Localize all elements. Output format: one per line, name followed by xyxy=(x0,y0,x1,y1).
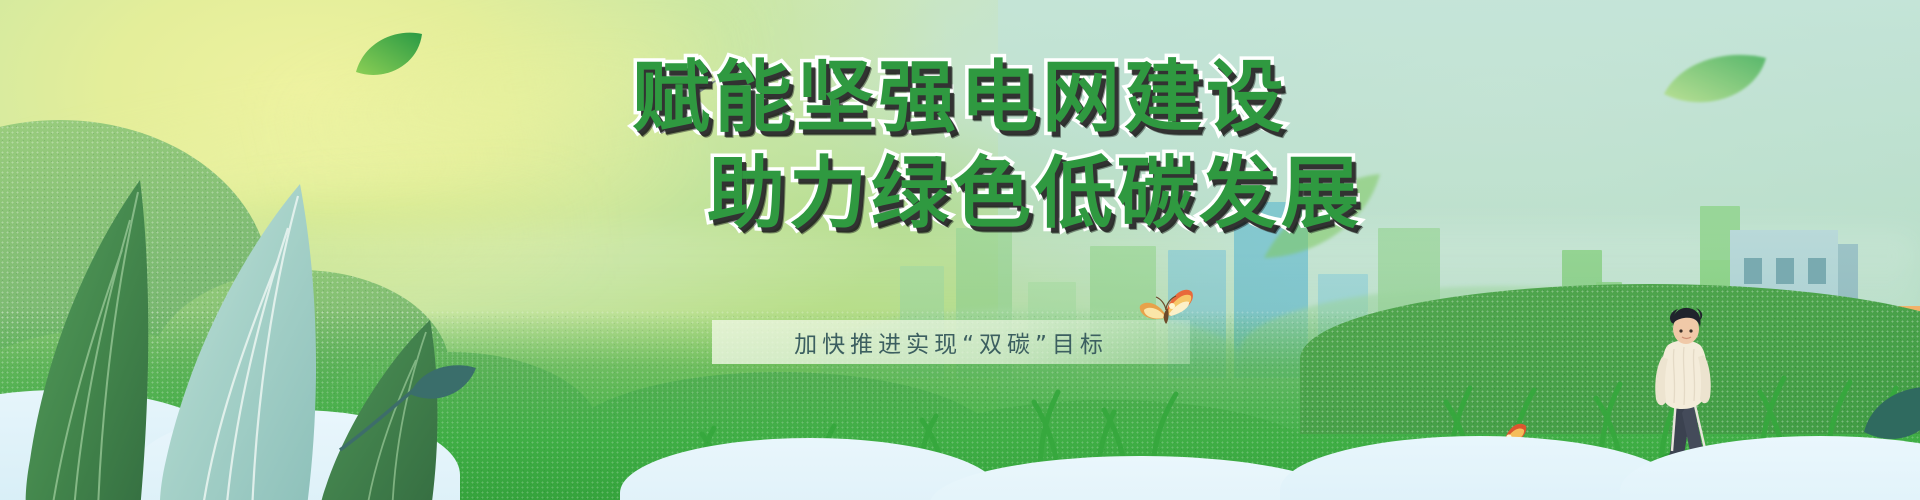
leaf-dark-teal-right xyxy=(1860,372,1920,462)
floating-leaf-top-left xyxy=(352,28,426,82)
swallow-bird-icon xyxy=(636,60,722,122)
leaf-on-stem-center xyxy=(330,332,480,452)
butterfly-near-subtitle-icon xyxy=(1136,284,1196,336)
subtitle-text: 加快推进实现“双碳”目标 xyxy=(712,320,1190,364)
eco-banner: 赋能坚强电网建设 助力绿色低碳发展 加快推进实现“双碳”目标 xyxy=(0,0,1920,500)
floating-leaf-mid-right xyxy=(1262,172,1382,262)
floating-leaf-top-right xyxy=(1660,48,1770,114)
